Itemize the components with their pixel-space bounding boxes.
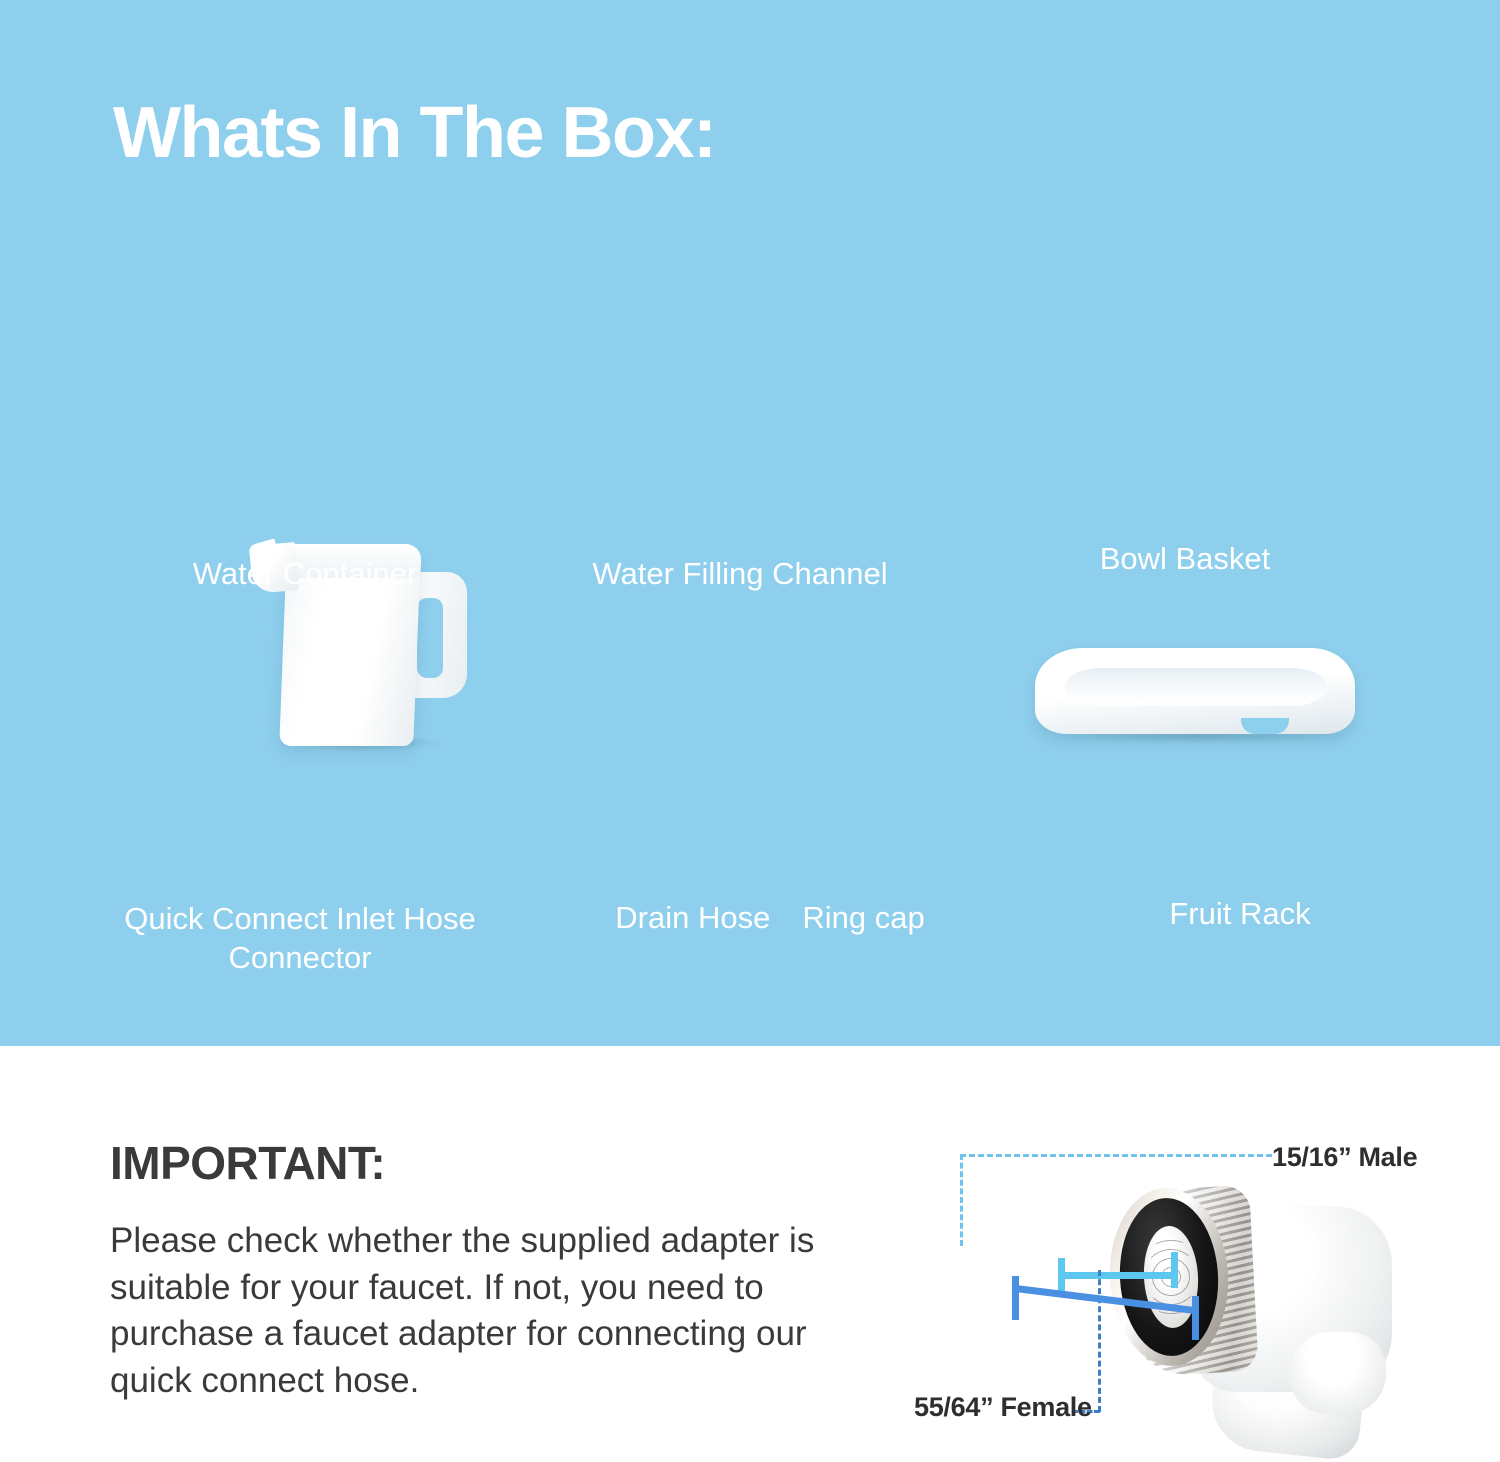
important-heading: IMPORTANT: xyxy=(110,1136,385,1190)
product-label-water-container: Water Container xyxy=(60,555,550,594)
product-label-fruit-rack: Fruit Rack xyxy=(1000,895,1480,934)
product-label-drain-hose: Drain Hose xyxy=(615,900,770,936)
adapter-dimension-diagram: 15/16” Male 55/64” Female xyxy=(900,1120,1500,1457)
male-dimension-bar xyxy=(1058,1272,1178,1279)
female-leader-vertical xyxy=(1098,1270,1101,1412)
adapter-foot-front xyxy=(1290,1332,1386,1414)
male-leader-vertical xyxy=(960,1154,963,1246)
female-dimension-cap-right xyxy=(1192,1296,1199,1340)
drain-hose-ringcap-labels: Drain Hose Ring cap xyxy=(530,900,1010,936)
important-body-text: Please check whether the supplied adapte… xyxy=(110,1218,890,1404)
product-label-water-filling-channel: Water Filling Channel xyxy=(495,555,985,594)
male-dimension-cap-right xyxy=(1171,1252,1178,1288)
product-item-drain-hose: Drain Hose xyxy=(530,660,1010,1040)
page-title: Whats In The Box: xyxy=(113,92,716,174)
product-label-ring-cap: Ring cap xyxy=(802,900,924,936)
product-item-bowl-basket: Bowl Basket xyxy=(935,235,1435,635)
product-item-water-filling-channel: Water Filling Channel xyxy=(495,250,985,640)
product-item-fruit-rack: Fruit Rack xyxy=(1000,640,1480,1020)
female-dimension-cap-left xyxy=(1012,1276,1019,1320)
product-item-inlet-hose: Quick Connect Inlet Hose Connector xyxy=(55,660,545,1040)
female-dimension-label: 55/64” Female xyxy=(914,1392,1092,1423)
whats-in-the-box-section: Whats In The Box: Water Container Water … xyxy=(0,0,1500,1046)
male-dimension-cap-left xyxy=(1058,1258,1065,1294)
product-label-bowl-basket: Bowl Basket xyxy=(935,540,1435,579)
product-item-water-container: Water Container xyxy=(60,250,550,640)
product-label-inlet-hose: Quick Connect Inlet Hose Connector xyxy=(55,900,545,978)
faucet-adapter-photo xyxy=(1100,1182,1400,1457)
male-leader-horizontal xyxy=(960,1154,1272,1157)
male-dimension-label: 15/16” Male xyxy=(1272,1142,1417,1173)
